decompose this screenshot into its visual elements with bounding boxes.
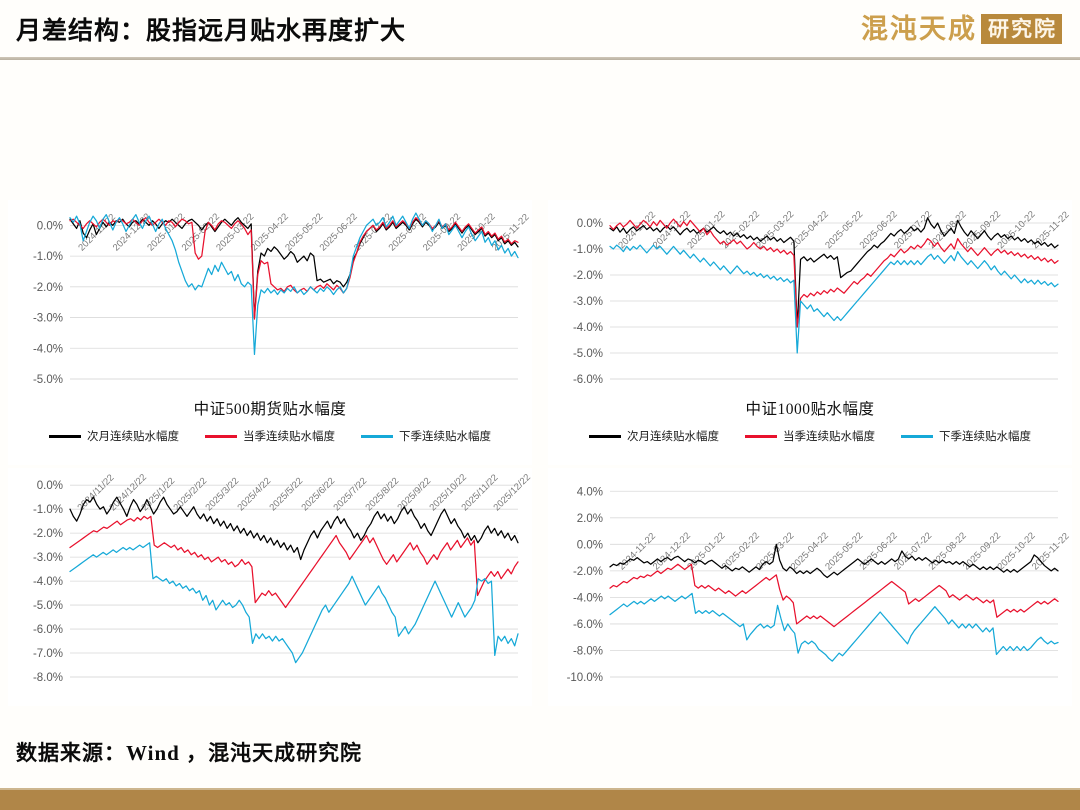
svg-text:-3.0%: -3.0% (33, 552, 63, 564)
legend-swatch-next-quarter (901, 435, 933, 438)
brand-logo: 混沌天成 研究院 (861, 8, 1062, 50)
legend-label-next-quarter: 下季连续贴水幅度 (939, 428, 1031, 444)
chart-title-cs500: 中证500期货贴水幅度 (8, 397, 532, 419)
svg-text:-1.0%: -1.0% (573, 244, 603, 256)
svg-text:2025/4/22: 2025/4/22 (236, 476, 274, 514)
legend-item-current-quarter[interactable]: 当季连续贴水幅度 (745, 428, 875, 444)
svg-text:-2.0%: -2.0% (573, 270, 603, 282)
svg-text:-10.0%: -10.0% (567, 672, 603, 684)
footer-bar (0, 790, 1080, 810)
chart-svg-2: 0.0%-1.0%-2.0%-3.0%-4.0%-5.0%-6.0%-7.0%-… (8, 468, 532, 693)
svg-text:-3.0%: -3.0% (573, 296, 603, 308)
svg-text:2025/3/22: 2025/3/22 (204, 476, 242, 514)
svg-text:-8.0%: -8.0% (33, 672, 63, 684)
legend-swatch-next-quarter (361, 435, 393, 438)
chart-svg-0: 0.0%-1.0%-2.0%-3.0%-4.0%-5.0%2024-11-222… (8, 200, 532, 395)
svg-text:-3.0%: -3.0% (33, 313, 63, 325)
legend-label-next-month: 次月连续贴水幅度 (87, 428, 179, 444)
charts-area: 0.0%-1.0%-2.0%-3.0%-4.0%-5.0%2024-11-222… (0, 190, 1080, 710)
svg-text:-6.0%: -6.0% (573, 374, 603, 386)
svg-text:-8.0%: -8.0% (573, 645, 603, 657)
svg-text:-4.0%: -4.0% (33, 343, 63, 355)
svg-text:2025/7/22: 2025/7/22 (332, 476, 370, 514)
legend-label-next-quarter: 下季连续贴水幅度 (399, 428, 491, 444)
source-note: 数据来源：Wind ，混沌天成研究院 (16, 737, 362, 767)
legend-label-current-quarter: 当季连续贴水幅度 (243, 428, 335, 444)
chart-cs1000-bottom: 4.0%2.0%0.0%-2.0%-4.0%-6.0%-8.0%-10.0%20… (548, 468, 1072, 706)
plot-area-cs1000-top: 0.0%-1.0%-2.0%-3.0%-4.0%-5.0%-6.0%2024-1… (548, 200, 1072, 395)
legend-label-current-quarter: 当季连续贴水幅度 (783, 428, 875, 444)
legend-swatch-current-quarter (745, 435, 777, 438)
legend-label-next-month: 次月连续贴水幅度 (627, 428, 719, 444)
svg-text:2025/9/22: 2025/9/22 (396, 476, 434, 514)
legend-item-current-quarter[interactable]: 当季连续贴水幅度 (205, 428, 335, 444)
legend-item-next-month[interactable]: 次月连续贴水幅度 (589, 428, 719, 444)
svg-text:0.0%: 0.0% (37, 220, 63, 232)
svg-text:0.0%: 0.0% (37, 480, 63, 492)
svg-text:-1.0%: -1.0% (33, 251, 63, 263)
svg-text:-6.0%: -6.0% (573, 619, 603, 631)
svg-text:2025/5/22: 2025/5/22 (268, 476, 306, 514)
chart-cs500-bottom: 0.0%-1.0%-2.0%-3.0%-4.0%-5.0%-6.0%-7.0%-… (8, 468, 532, 706)
svg-text:-4.0%: -4.0% (573, 592, 603, 604)
svg-text:0.0%: 0.0% (577, 218, 603, 230)
plot-area-cs500-bottom: 0.0%-1.0%-2.0%-3.0%-4.0%-5.0%-6.0%-7.0%-… (8, 468, 532, 693)
svg-text:-2.0%: -2.0% (33, 282, 63, 294)
svg-text:-7.0%: -7.0% (33, 648, 63, 660)
legend-swatch-next-month (589, 435, 621, 438)
svg-text:2025/6/22: 2025/6/22 (300, 476, 338, 514)
svg-text:-5.0%: -5.0% (33, 600, 63, 612)
brand-badge-text: 研究院 (981, 14, 1062, 44)
svg-text:-5.0%: -5.0% (573, 348, 603, 360)
chart-title-cs1000: 中证1000贴水幅度 (548, 397, 1072, 419)
svg-text:2025/8/22: 2025/8/22 (364, 476, 402, 514)
chart-cs500-top: 0.0%-1.0%-2.0%-3.0%-4.0%-5.0%2024-11-222… (8, 200, 532, 465)
svg-text:-4.0%: -4.0% (33, 576, 63, 588)
svg-text:2.0%: 2.0% (577, 513, 603, 525)
legend-item-next-quarter[interactable]: 下季连续贴水幅度 (361, 428, 491, 444)
plot-area-cs1000-bottom: 4.0%2.0%0.0%-2.0%-4.0%-6.0%-8.0%-10.0%20… (548, 468, 1072, 693)
page-title: 月差结构：股指远月贴水再度扩大 (16, 11, 406, 47)
legend-swatch-current-quarter (205, 435, 237, 438)
brand-name-text: 混沌天成 (861, 16, 977, 43)
svg-text:4.0%: 4.0% (577, 486, 603, 498)
chart-cs1000-top: 0.0%-1.0%-2.0%-3.0%-4.0%-5.0%-6.0%2024-1… (548, 200, 1072, 465)
legend-item-next-month[interactable]: 次月连续贴水幅度 (49, 428, 179, 444)
slide-header: 月差结构：股指远月贴水再度扩大 混沌天成 研究院 (0, 0, 1080, 57)
svg-text:-4.0%: -4.0% (573, 322, 603, 334)
svg-text:0.0%: 0.0% (577, 539, 603, 551)
chart-svg-1: 0.0%-1.0%-2.0%-3.0%-4.0%-5.0%-6.0%2024-1… (548, 200, 1072, 395)
svg-text:-1.0%: -1.0% (33, 504, 63, 516)
chart-legend-cs500: 次月连续贴水幅度 当季连续贴水幅度 下季连续贴水幅度 (8, 428, 532, 444)
chart-svg-3: 4.0%2.0%0.0%-2.0%-4.0%-6.0%-8.0%-10.0%20… (548, 468, 1072, 693)
plot-area-cs500-top: 0.0%-1.0%-2.0%-3.0%-4.0%-5.0%2024-11-222… (8, 200, 532, 395)
legend-item-next-quarter[interactable]: 下季连续贴水幅度 (901, 428, 1031, 444)
svg-text:-2.0%: -2.0% (33, 528, 63, 540)
svg-text:-2.0%: -2.0% (573, 566, 603, 578)
svg-text:-5.0%: -5.0% (33, 374, 63, 386)
header-divider (0, 57, 1080, 60)
chart-legend-cs1000: 次月连续贴水幅度 当季连续贴水幅度 下季连续贴水幅度 (548, 428, 1072, 444)
svg-text:-6.0%: -6.0% (33, 624, 63, 636)
svg-text:2025/2/22: 2025/2/22 (172, 476, 210, 514)
legend-swatch-next-month (49, 435, 81, 438)
